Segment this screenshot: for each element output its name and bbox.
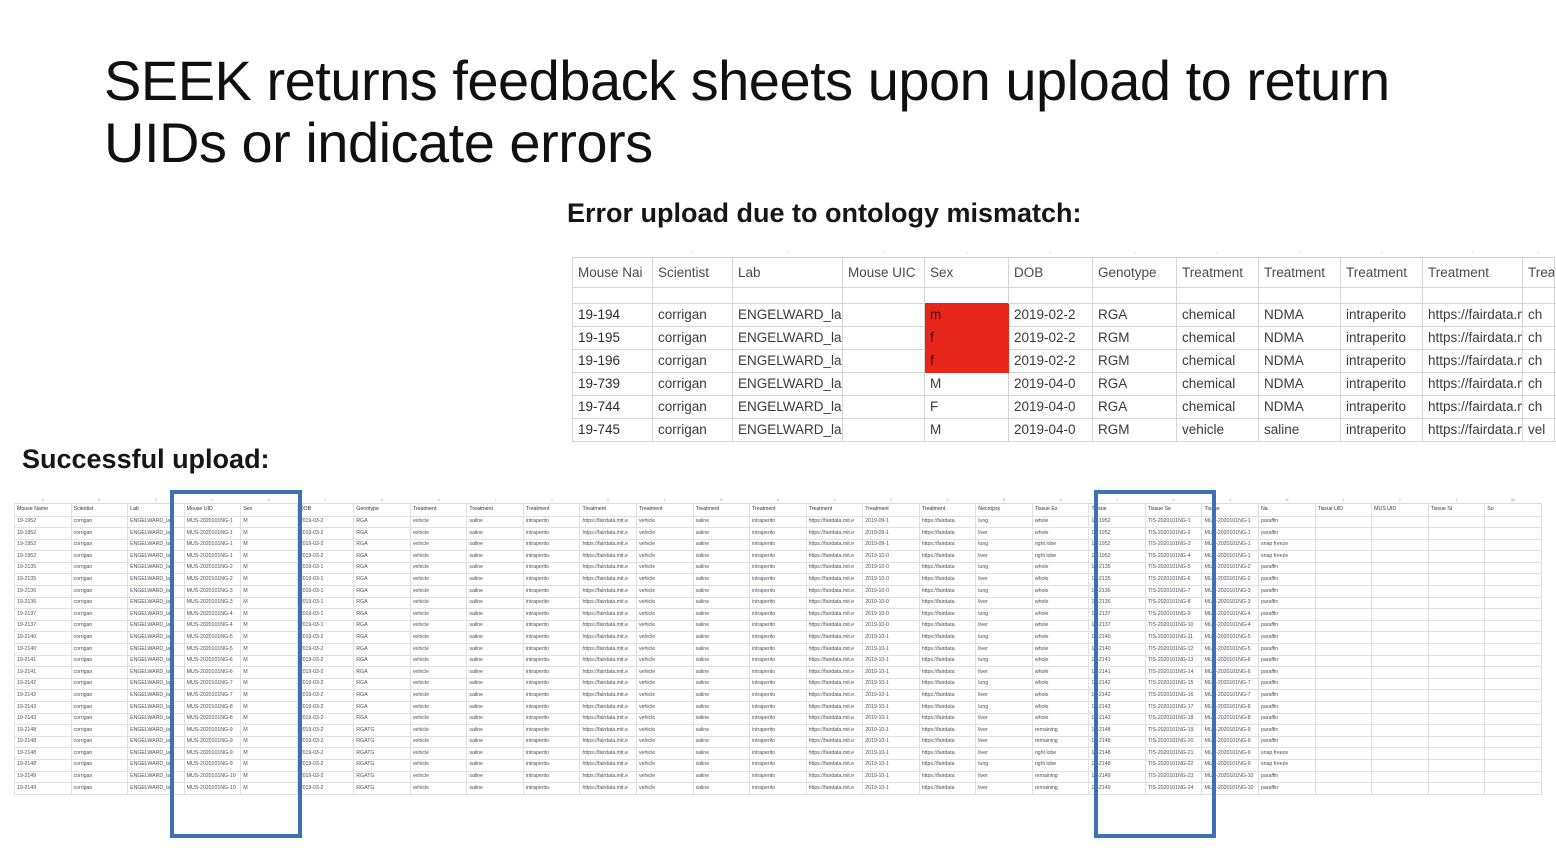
column-header[interactable]: Treatment bbox=[637, 503, 694, 516]
table-cell[interactable]: 2019-03-2 bbox=[297, 644, 354, 656]
table-cell[interactable]: intraperito bbox=[523, 597, 580, 609]
table-cell[interactable]: MUS-2020101NG-4 bbox=[184, 620, 241, 632]
table-cell[interactable] bbox=[1372, 539, 1429, 551]
table-cell[interactable]: corrigan bbox=[71, 539, 128, 551]
table-cell[interactable]: saline bbox=[693, 574, 750, 586]
table-cell[interactable]: RGA bbox=[354, 562, 411, 574]
table-cell[interactable]: snap freeze bbox=[1259, 551, 1316, 563]
table-cell[interactable]: NDMA bbox=[1259, 395, 1341, 418]
table-cell[interactable]: https://fairdata.mit.e bbox=[806, 702, 863, 714]
table-cell[interactable]: MUS-2020101NG-1 bbox=[1202, 516, 1259, 528]
table-cell[interactable]: saline bbox=[693, 678, 750, 690]
table-cell[interactable]: vehicle bbox=[637, 713, 694, 725]
table-cell[interactable]: MUS-2020101NG-10 bbox=[184, 783, 241, 795]
table-cell[interactable]: saline bbox=[693, 748, 750, 760]
table-cell[interactable] bbox=[1372, 551, 1429, 563]
table-cell[interactable]: MUS-2020101NG-6 bbox=[1202, 667, 1259, 679]
table-cell[interactable]: saline bbox=[467, 655, 524, 667]
table-cell[interactable]: intraperito bbox=[523, 690, 580, 702]
table-cell[interactable]: corrigan bbox=[653, 418, 733, 441]
table-cell[interactable]: saline bbox=[467, 713, 524, 725]
table-cell[interactable]: saline bbox=[693, 562, 750, 574]
table-cell[interactable]: https://fairdata.mit.e bbox=[580, 644, 637, 656]
table-cell[interactable]: NDMA bbox=[1259, 303, 1341, 326]
table-cell[interactable]: TIS-2020101NG-4 bbox=[1145, 551, 1202, 563]
table-cell[interactable]: 2019-10-0 bbox=[863, 609, 920, 621]
table-cell[interactable]: https://fairdata.mit.e bbox=[580, 783, 637, 795]
table-cell[interactable]: MUS-2020101NG-8 bbox=[184, 713, 241, 725]
table-cell[interactable] bbox=[1485, 562, 1542, 574]
table-cell[interactable] bbox=[1428, 655, 1485, 667]
table-cell[interactable]: whole bbox=[1032, 655, 1089, 667]
table-cell[interactable] bbox=[1485, 632, 1542, 644]
column-header[interactable]: Tissue Ex bbox=[1032, 503, 1089, 516]
table-cell[interactable]: MUS-2020101NG-7 bbox=[184, 678, 241, 690]
table-cell[interactable]: https://fairdata.mit.e bbox=[806, 632, 863, 644]
table-cell[interactable]: corrigan bbox=[71, 748, 128, 760]
table-cell[interactable]: intraperito bbox=[523, 574, 580, 586]
table-cell[interactable]: 2019-03-2 bbox=[297, 725, 354, 737]
column-header[interactable]: Lab bbox=[128, 503, 185, 516]
table-cell[interactable]: corrigan bbox=[71, 783, 128, 795]
table-cell[interactable]: 2019-10-1 bbox=[863, 667, 920, 679]
table-cell[interactable]: intraperito bbox=[1341, 395, 1423, 418]
table-cell[interactable]: right lobe bbox=[1032, 748, 1089, 760]
table-cell[interactable]: TIS-2020101NG-22 bbox=[1145, 759, 1202, 771]
table-cell[interactable]: remaining bbox=[1032, 771, 1089, 783]
table-cell[interactable]: 2019-10-1 bbox=[863, 771, 920, 783]
table-cell[interactable]: corrigan bbox=[71, 771, 128, 783]
column-header[interactable]: Mouse UID bbox=[184, 503, 241, 516]
table-cell[interactable]: ch bbox=[1523, 326, 1555, 349]
table-cell[interactable]: liver bbox=[976, 574, 1033, 586]
table-cell[interactable] bbox=[1315, 586, 1372, 598]
table-cell[interactable]: intraperito bbox=[750, 667, 807, 679]
table-cell[interactable]: saline bbox=[467, 562, 524, 574]
table-cell[interactable]: saline bbox=[693, 725, 750, 737]
table-cell[interactable]: https://fairdata bbox=[919, 771, 976, 783]
table-cell[interactable]: ENGELWARD_lab bbox=[733, 395, 843, 418]
table-cell[interactable]: corrigan bbox=[71, 586, 128, 598]
table-cell[interactable]: TIS-2020101NG-1 bbox=[1145, 516, 1202, 528]
table-cell[interactable] bbox=[1428, 632, 1485, 644]
table-cell[interactable]: NDMA bbox=[1259, 349, 1341, 372]
table-cell[interactable]: MUS-2020101NG-5 bbox=[184, 632, 241, 644]
table-cell[interactable]: M bbox=[241, 632, 298, 644]
table-cell[interactable]: intraperito bbox=[750, 771, 807, 783]
table-cell[interactable]: intraperito bbox=[523, 609, 580, 621]
table-cell[interactable]: https://fairdata bbox=[919, 713, 976, 725]
table-cell[interactable]: 2019-10-1 bbox=[863, 713, 920, 725]
table-cell[interactable]: 19-2149 bbox=[15, 771, 72, 783]
table-cell[interactable]: saline bbox=[693, 736, 750, 748]
table-cell[interactable]: M bbox=[241, 586, 298, 598]
table-cell[interactable]: saline bbox=[693, 528, 750, 540]
table-cell[interactable]: whole bbox=[1032, 678, 1089, 690]
table-cell[interactable]: https://fairdata.mit.e bbox=[806, 539, 863, 551]
table-cell[interactable] bbox=[1372, 586, 1429, 598]
column-header[interactable]: Sex bbox=[241, 503, 298, 516]
table-cell[interactable]: RGA bbox=[354, 632, 411, 644]
table-cell[interactable]: https://fairdata.mit.e bbox=[580, 528, 637, 540]
table-cell[interactable] bbox=[843, 349, 925, 372]
table-cell[interactable]: RGA bbox=[354, 516, 411, 528]
table-cell[interactable] bbox=[1372, 702, 1429, 714]
table-cell[interactable] bbox=[843, 372, 925, 395]
table-cell[interactable]: lung bbox=[976, 516, 1033, 528]
table-cell[interactable]: M bbox=[241, 620, 298, 632]
table-cell[interactable]: ENGELWARD_lab bbox=[128, 528, 185, 540]
table-cell[interactable]: 2019-03-2 bbox=[297, 736, 354, 748]
column-header[interactable]: Treatment bbox=[1423, 257, 1523, 287]
table-cell[interactable]: saline bbox=[693, 516, 750, 528]
table-cell[interactable]: corrigan bbox=[71, 713, 128, 725]
table-cell[interactable]: vehicle bbox=[637, 702, 694, 714]
table-cell[interactable]: vehicle bbox=[410, 736, 467, 748]
table-cell[interactable]: https://fairdata.mit.e bbox=[806, 690, 863, 702]
table-cell[interactable]: vehicle bbox=[637, 771, 694, 783]
table-cell[interactable]: corrigan bbox=[71, 528, 128, 540]
table-cell[interactable] bbox=[1372, 562, 1429, 574]
table-cell[interactable]: corrigan bbox=[71, 667, 128, 679]
table-cell[interactable]: https://fairdata.mit.e bbox=[806, 655, 863, 667]
table-cell[interactable]: 19-2143 bbox=[1089, 702, 1146, 714]
table-cell[interactable]: MUS-2020101NG-9 bbox=[1202, 748, 1259, 760]
table-cell[interactable]: 19-2135 bbox=[15, 562, 72, 574]
table-cell[interactable]: https://fairdata.mit.e bbox=[580, 667, 637, 679]
table-cell[interactable]: 19-2143 bbox=[15, 713, 72, 725]
table-cell[interactable]: RGA bbox=[354, 655, 411, 667]
table-cell[interactable]: https://fairdata.mit.e bbox=[806, 516, 863, 528]
table-cell[interactable]: corrigan bbox=[653, 372, 733, 395]
table-cell[interactable]: vehicle bbox=[637, 551, 694, 563]
table-cell[interactable]: vehicle bbox=[410, 609, 467, 621]
table-cell[interactable]: M bbox=[925, 372, 1009, 395]
table-cell[interactable]: intraperito bbox=[523, 655, 580, 667]
table-cell[interactable]: remaining bbox=[1032, 736, 1089, 748]
table-cell[interactable]: snap freeze bbox=[1259, 748, 1316, 760]
table-cell[interactable] bbox=[1485, 748, 1542, 760]
table-cell[interactable]: intraperito bbox=[750, 736, 807, 748]
table-cell[interactable]: 19-2140 bbox=[15, 644, 72, 656]
table-cell[interactable]: M bbox=[241, 597, 298, 609]
table-cell[interactable]: paraffin bbox=[1259, 620, 1316, 632]
column-letter[interactable]: - bbox=[1177, 250, 1259, 257]
table-cell[interactable]: M bbox=[241, 609, 298, 621]
table-cell[interactable] bbox=[1372, 620, 1429, 632]
table-cell[interactable]: MUS-2020101NG-3 bbox=[1202, 597, 1259, 609]
table-cell[interactable]: right lobe bbox=[1032, 759, 1089, 771]
table-cell[interactable]: RGA bbox=[354, 574, 411, 586]
table-cell[interactable]: ENGELWARD_lab bbox=[733, 326, 843, 349]
table-cell[interactable]: ENGELWARD_lab bbox=[128, 678, 185, 690]
table-cell[interactable]: https://fairdata.mit.e bbox=[806, 620, 863, 632]
column-letter[interactable]: - bbox=[733, 250, 843, 257]
table-cell[interactable]: F bbox=[925, 395, 1009, 418]
table-cell[interactable]: https://fairdata.mit.edi bbox=[1423, 303, 1523, 326]
table-cell[interactable]: saline bbox=[693, 783, 750, 795]
table-cell[interactable]: 2019-10-1 bbox=[863, 655, 920, 667]
table-cell[interactable]: 19-2140 bbox=[1089, 644, 1146, 656]
table-cell[interactable]: https://fairdata bbox=[919, 783, 976, 795]
table-cell[interactable]: vehicle bbox=[410, 667, 467, 679]
table-cell[interactable]: MUS-2020101NG-1 bbox=[1202, 551, 1259, 563]
column-header[interactable]: Tissue Se bbox=[1145, 503, 1202, 516]
table-cell[interactable]: MUS-2020101NG-3 bbox=[184, 586, 241, 598]
table-cell[interactable]: ENGELWARD_lab bbox=[128, 702, 185, 714]
table-cell[interactable]: saline bbox=[693, 667, 750, 679]
column-header[interactable]: Treatment bbox=[863, 503, 920, 516]
column-header[interactable]: Scientist bbox=[71, 503, 128, 516]
table-cell[interactable]: vehicle bbox=[637, 736, 694, 748]
table-cell[interactable]: liver bbox=[976, 748, 1033, 760]
table-cell[interactable]: saline bbox=[467, 597, 524, 609]
table-cell[interactable]: MUS-2020101NG-2 bbox=[1202, 574, 1259, 586]
table-cell[interactable]: 2019-10-1 bbox=[863, 725, 920, 737]
table-cell[interactable]: https://fairdata.mit.e bbox=[806, 748, 863, 760]
table-cell[interactable] bbox=[1315, 713, 1372, 725]
table-cell[interactable]: 19-2142 bbox=[1089, 678, 1146, 690]
table-cell[interactable]: corrigan bbox=[71, 609, 128, 621]
table-cell[interactable]: saline bbox=[1259, 418, 1341, 441]
table-cell[interactable]: RGA bbox=[1093, 303, 1177, 326]
column-header[interactable]: Treatment bbox=[580, 503, 637, 516]
column-letter[interactable]: - bbox=[653, 250, 733, 257]
table-cell[interactable]: vehicle bbox=[410, 678, 467, 690]
table-cell[interactable]: vehicle bbox=[410, 528, 467, 540]
table-cell[interactable] bbox=[1372, 644, 1429, 656]
table-cell[interactable]: https://fairdata bbox=[919, 736, 976, 748]
column-letter[interactable]: - bbox=[1523, 250, 1555, 257]
table-cell[interactable]: 2019-10-0 bbox=[863, 586, 920, 598]
table-cell[interactable] bbox=[1428, 713, 1485, 725]
table-cell[interactable]: MUS-2020101NG-6 bbox=[184, 655, 241, 667]
table-cell[interactable] bbox=[1315, 759, 1372, 771]
table-cell[interactable]: https://fairdata.mit.e bbox=[806, 597, 863, 609]
table-cell[interactable]: intraperito bbox=[1341, 418, 1423, 441]
table-cell[interactable] bbox=[1485, 609, 1542, 621]
table-cell[interactable] bbox=[1428, 620, 1485, 632]
table-cell[interactable]: 19-1952 bbox=[1089, 516, 1146, 528]
table-cell[interactable] bbox=[1315, 597, 1372, 609]
table-cell[interactable]: MUS-2020101NG-7 bbox=[184, 690, 241, 702]
table-cell[interactable]: vehicle bbox=[410, 702, 467, 714]
table-cell[interactable]: paraffin bbox=[1259, 644, 1316, 656]
table-cell[interactable] bbox=[1485, 644, 1542, 656]
table-cell[interactable]: https://fairdata.mit.e bbox=[580, 678, 637, 690]
table-cell[interactable]: chemical bbox=[1177, 349, 1259, 372]
table-cell[interactable]: lung bbox=[976, 632, 1033, 644]
table-cell[interactable]: intraperito bbox=[523, 783, 580, 795]
table-cell[interactable]: saline bbox=[693, 644, 750, 656]
table-cell[interactable]: intraperito bbox=[750, 574, 807, 586]
table-cell[interactable]: intraperito bbox=[523, 644, 580, 656]
table-cell[interactable]: 2019-03-2 bbox=[297, 528, 354, 540]
table-cell[interactable] bbox=[843, 303, 925, 326]
table-cell[interactable]: https://fairdata bbox=[919, 516, 976, 528]
table-cell[interactable]: 19-2140 bbox=[15, 632, 72, 644]
table-cell[interactable]: TIS-2020101NG-15 bbox=[1145, 678, 1202, 690]
table-cell[interactable]: MUS-2020101NG-1 bbox=[1202, 539, 1259, 551]
table-cell[interactable]: MUS-2020101NG-8 bbox=[1202, 702, 1259, 714]
table-cell[interactable]: vehicle bbox=[410, 644, 467, 656]
table-cell[interactable]: paraffin bbox=[1259, 597, 1316, 609]
table-cell[interactable] bbox=[1485, 736, 1542, 748]
column-letter[interactable]: - bbox=[1093, 250, 1177, 257]
table-cell[interactable]: 2019-09-1 bbox=[863, 528, 920, 540]
table-cell[interactable]: https://fairdata.mit.e bbox=[806, 783, 863, 795]
table-cell[interactable]: RGM bbox=[1093, 418, 1177, 441]
table-cell[interactable]: ENGELWARD_lab bbox=[128, 586, 185, 598]
table-cell[interactable]: lung bbox=[976, 609, 1033, 621]
table-cell[interactable]: https://fairdata.mit.edi bbox=[1423, 372, 1523, 395]
table-cell[interactable]: RGA bbox=[354, 609, 411, 621]
table-cell[interactable]: paraffin bbox=[1259, 528, 1316, 540]
table-cell[interactable]: TIS-2020101NG-2 bbox=[1145, 528, 1202, 540]
table-cell[interactable]: RGM bbox=[1093, 326, 1177, 349]
table-cell[interactable]: RGATG bbox=[354, 771, 411, 783]
table-cell[interactable]: intraperito bbox=[523, 713, 580, 725]
table-cell[interactable]: ENGELWARD_lab bbox=[128, 667, 185, 679]
table-cell[interactable]: RGA bbox=[354, 586, 411, 598]
table-cell[interactable]: lung bbox=[976, 562, 1033, 574]
table-cell[interactable]: 2019-10-1 bbox=[863, 702, 920, 714]
table-cell[interactable] bbox=[843, 395, 925, 418]
table-cell[interactable]: intraperito bbox=[750, 759, 807, 771]
table-cell[interactable]: intraperito bbox=[750, 528, 807, 540]
column-header[interactable]: Treatment bbox=[1523, 257, 1555, 287]
column-header[interactable]: Genotype bbox=[1093, 257, 1177, 287]
table-cell[interactable]: corrigan bbox=[71, 690, 128, 702]
table-cell[interactable]: saline bbox=[467, 736, 524, 748]
table-cell[interactable]: MUS-2020101NG-9 bbox=[184, 725, 241, 737]
table-cell[interactable]: 2019-03-2 bbox=[297, 759, 354, 771]
table-cell[interactable]: intraperito bbox=[750, 702, 807, 714]
table-cell[interactable]: M bbox=[241, 759, 298, 771]
table-cell[interactable]: MUS-2020101NG-5 bbox=[1202, 644, 1259, 656]
table-cell[interactable]: NDMA bbox=[1259, 326, 1341, 349]
table-cell[interactable]: https://fairdata.mit.e bbox=[580, 771, 637, 783]
table-cell[interactable] bbox=[1315, 771, 1372, 783]
table-cell[interactable] bbox=[1485, 574, 1542, 586]
table-cell[interactable] bbox=[1485, 516, 1542, 528]
table-cell[interactable]: 19-2141 bbox=[1089, 655, 1146, 667]
table-cell[interactable]: intraperito bbox=[1341, 372, 1423, 395]
table-cell[interactable]: intraperito bbox=[523, 702, 580, 714]
table-cell[interactable]: whole bbox=[1032, 609, 1089, 621]
table-cell[interactable]: liver bbox=[976, 597, 1033, 609]
column-header[interactable]: Necropsy bbox=[976, 503, 1033, 516]
table-cell[interactable]: vehicle bbox=[637, 586, 694, 598]
column-letter[interactable]: - bbox=[1341, 250, 1423, 257]
table-cell[interactable]: https://fairdata bbox=[919, 574, 976, 586]
table-cell[interactable] bbox=[1315, 574, 1372, 586]
table-cell[interactable]: RGA bbox=[354, 690, 411, 702]
table-cell[interactable]: 19-2135 bbox=[1089, 562, 1146, 574]
column-letter[interactable]: - bbox=[1009, 250, 1093, 257]
table-cell[interactable]: MUS-2020101NG-10 bbox=[1202, 783, 1259, 795]
table-cell[interactable]: https://fairdata.mit.e bbox=[806, 713, 863, 725]
table-cell[interactable]: https://fairdata.mit.e bbox=[806, 725, 863, 737]
table-cell[interactable]: intraperito bbox=[523, 736, 580, 748]
table-cell[interactable]: https://fairdata.mit.e bbox=[806, 574, 863, 586]
table-cell[interactable]: TIS-2020101NG-14 bbox=[1145, 667, 1202, 679]
table-cell[interactable]: 19-2142 bbox=[1089, 690, 1146, 702]
table-cell[interactable]: paraffin bbox=[1259, 667, 1316, 679]
column-letter[interactable]: - bbox=[843, 250, 925, 257]
table-cell[interactable]: MUS-2020101NG-9 bbox=[1202, 759, 1259, 771]
table-cell[interactable]: vehicle bbox=[410, 574, 467, 586]
table-cell[interactable]: corrigan bbox=[653, 303, 733, 326]
table-cell[interactable]: MUS-2020101NG-7 bbox=[1202, 678, 1259, 690]
table-cell[interactable]: MUS-2020101NG-1 bbox=[184, 539, 241, 551]
table-cell[interactable]: 2019-10-0 bbox=[863, 574, 920, 586]
table-cell[interactable]: corrigan bbox=[71, 516, 128, 528]
table-cell[interactable]: M bbox=[241, 574, 298, 586]
table-cell[interactable] bbox=[1428, 702, 1485, 714]
table-cell[interactable] bbox=[1315, 632, 1372, 644]
table-cell[interactable]: TIS-2020101NG-19 bbox=[1145, 725, 1202, 737]
table-cell[interactable]: remaining bbox=[1032, 783, 1089, 795]
table-cell[interactable]: corrigan bbox=[71, 655, 128, 667]
table-cell[interactable]: NDMA bbox=[1259, 372, 1341, 395]
table-cell[interactable]: https://fairdata.mit.edi bbox=[1423, 418, 1523, 441]
table-cell[interactable]: whole bbox=[1032, 586, 1089, 598]
table-cell[interactable]: 19-2148 bbox=[15, 725, 72, 737]
table-cell[interactable] bbox=[1428, 586, 1485, 598]
table-cell[interactable]: https://fairdata bbox=[919, 644, 976, 656]
table-cell[interactable]: ENGELWARD_lab bbox=[733, 303, 843, 326]
table-cell[interactable]: MUS-2020101NG-9 bbox=[1202, 725, 1259, 737]
table-cell[interactable]: saline bbox=[467, 725, 524, 737]
column-header[interactable]: Treatment bbox=[919, 503, 976, 516]
column-header[interactable]: Treatment bbox=[1341, 257, 1423, 287]
table-cell[interactable] bbox=[1428, 690, 1485, 702]
column-header[interactable]: Mouse Nai bbox=[573, 257, 653, 287]
table-cell[interactable]: saline bbox=[693, 539, 750, 551]
table-cell[interactable]: RGA bbox=[354, 528, 411, 540]
table-cell[interactable] bbox=[1315, 736, 1372, 748]
table-cell[interactable]: paraffin bbox=[1259, 690, 1316, 702]
table-cell[interactable]: 2019-03-2 bbox=[297, 655, 354, 667]
table-cell[interactable]: corrigan bbox=[653, 395, 733, 418]
table-cell[interactable]: https://fairdata.mit.e bbox=[806, 586, 863, 598]
table-cell[interactable]: right lobe bbox=[1032, 539, 1089, 551]
table-cell[interactable] bbox=[1428, 725, 1485, 737]
table-cell[interactable]: lung bbox=[976, 539, 1033, 551]
table-cell[interactable]: MUS-2020101NG-1 bbox=[1202, 528, 1259, 540]
table-cell[interactable]: M bbox=[241, 713, 298, 725]
table-cell[interactable]: TIS-2020101NG-21 bbox=[1145, 748, 1202, 760]
table-cell[interactable]: vehicle bbox=[410, 690, 467, 702]
table-cell[interactable]: ENGELWARD_lab bbox=[128, 551, 185, 563]
table-cell[interactable]: paraffin bbox=[1259, 725, 1316, 737]
table-cell[interactable]: 19-2135 bbox=[15, 574, 72, 586]
table-cell[interactable]: RGA bbox=[354, 713, 411, 725]
table-cell[interactable]: vehicle bbox=[410, 713, 467, 725]
table-cell[interactable]: liver bbox=[976, 620, 1033, 632]
table-cell[interactable]: https://fairdata.mit.e bbox=[580, 748, 637, 760]
table-cell[interactable]: TIS-2020101NG-24 bbox=[1145, 783, 1202, 795]
table-cell[interactable]: paraffin bbox=[1259, 713, 1316, 725]
table-cell[interactable]: MUS-2020101NG-1 bbox=[184, 516, 241, 528]
table-cell[interactable]: ENGELWARD_lab bbox=[128, 516, 185, 528]
table-cell[interactable]: https://fairdata.mit.e bbox=[806, 644, 863, 656]
table-cell[interactable]: saline bbox=[467, 759, 524, 771]
table-cell[interactable]: TIS-2020101NG-12 bbox=[1145, 644, 1202, 656]
column-header[interactable]: Treatment bbox=[410, 503, 467, 516]
column-header[interactable]: Scientist bbox=[653, 257, 733, 287]
